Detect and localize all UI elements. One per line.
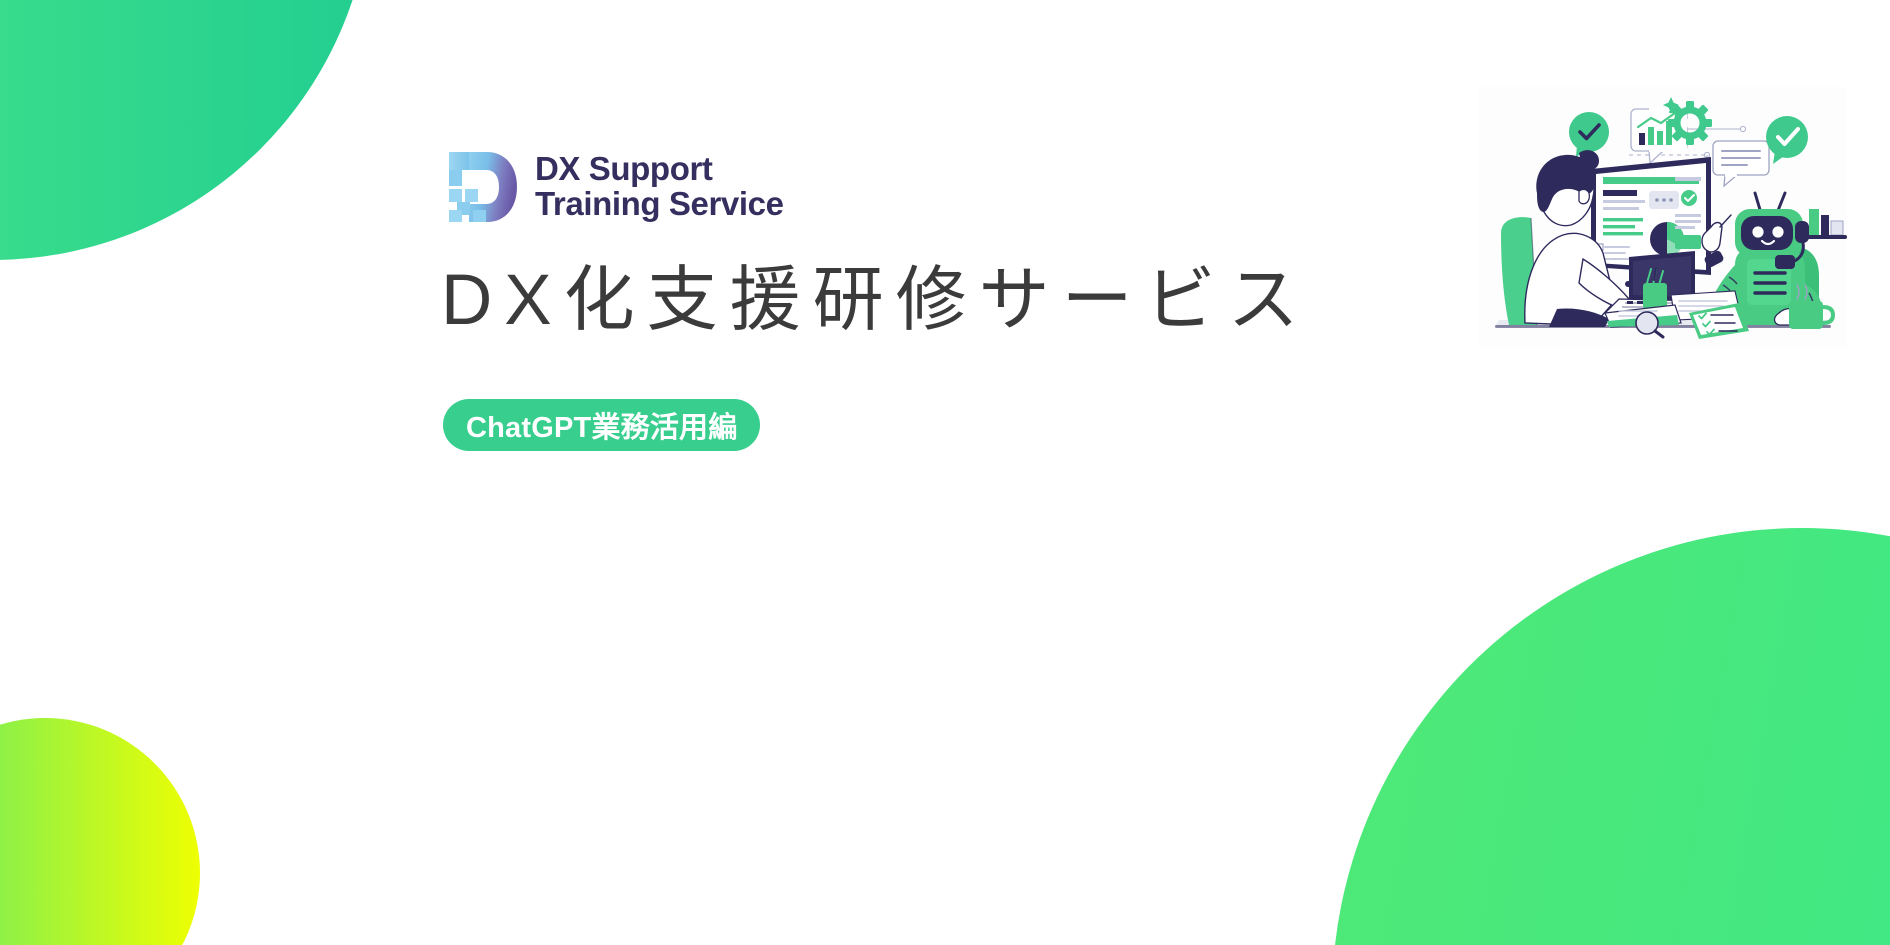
top-left-gradient-circle (0, 0, 372, 260)
logo-line-1: DX Support (535, 152, 784, 187)
logo-wordmark: DX Support Training Service (535, 152, 784, 222)
brand-logo[interactable]: DX Support Training Service (443, 148, 784, 226)
illustration-svg (1479, 87, 1847, 347)
status-badge: ChatGPT業務活用編 (443, 399, 760, 451)
bottom-left-gradient-circle (0, 718, 200, 945)
logo-line-2: Training Service (535, 187, 784, 222)
hero-banner: DX Support Training Service DX化支援研修サービス … (0, 0, 1890, 945)
bottom-right-gradient-circle (1332, 528, 1890, 945)
page-title: DX化支援研修サービス (441, 262, 1311, 340)
dx-pixel-d-logo-icon (443, 148, 521, 226)
person-and-ai-robot-at-desk-illustration (1479, 87, 1847, 347)
